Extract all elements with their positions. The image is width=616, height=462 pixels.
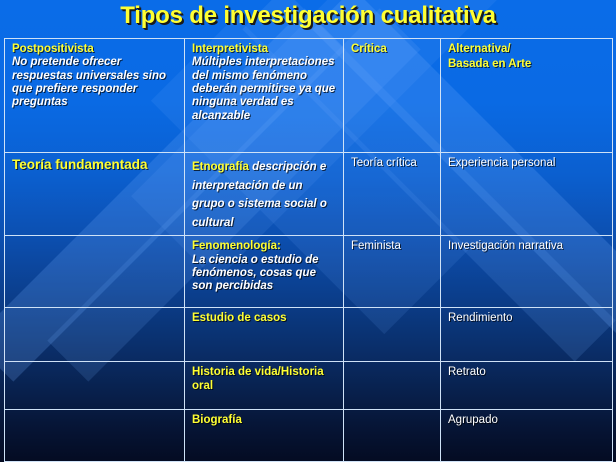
cell-critica: Crítica (344, 39, 441, 153)
header-title-interpretivista: Interpretivista (192, 43, 337, 56)
cell-experiencia-personal: Experiencia personal (441, 153, 613, 236)
cell-empty-r3c1 (5, 308, 185, 362)
row-value-agrupado: Agrupado (448, 414, 606, 427)
header-title-critica: Crítica (351, 43, 434, 56)
page-title: Tipos de investigación cualitativa (0, 2, 616, 30)
table-row: Biografía Agrupado (5, 410, 613, 462)
cell-rendimiento: Rendimiento (441, 308, 613, 362)
cell-teoria-critica: Teoría crítica (344, 153, 441, 236)
cell-alternativa: Alternativa/ Basada en Arte (441, 39, 613, 153)
cell-historia-de-vida: Historia de vida/Historia oral (185, 362, 344, 410)
slide-canvas: Tipos de investigación cualitativa Postp… (0, 0, 616, 462)
cell-agrupado: Agrupado (441, 410, 613, 462)
row-value-investigacion-narrativa: Investigación narrativa (448, 240, 606, 253)
row-title-estudio-de-casos: Estudio de casos (192, 312, 337, 325)
header-title-alternativa-line2: Basada en Arte (448, 58, 606, 71)
table-row: Estudio de casos Rendimiento (5, 308, 613, 362)
cell-fenomenologia: Fenomenología: La ciencia o estudio de f… (185, 236, 344, 308)
table-header-row: Postpositivista No pretende ofrecer resp… (5, 39, 613, 153)
header-title-alternativa-line1: Alternativa/ (448, 43, 606, 56)
cell-investigacion-narrativa: Investigación narrativa (441, 236, 613, 308)
row-value-feminista: Feminista (351, 240, 434, 253)
table-row: Fenomenología: La ciencia o estudio de f… (5, 236, 613, 308)
cell-empty-r5c3 (344, 410, 441, 462)
cell-feminista: Feminista (344, 236, 441, 308)
row-value-rendimiento: Rendimiento (448, 312, 606, 325)
cell-etnografia: Etnografía descripción e interpretación … (185, 153, 344, 236)
cell-teoria-fundamentada: Teoría fundamentada (5, 153, 185, 236)
research-types-table: Postpositivista No pretende ofrecer resp… (4, 38, 613, 462)
cell-biografia: Biografía (185, 410, 344, 462)
row-desc-fenomenologia: La ciencia o estudio de fenómenos, cosas… (192, 254, 337, 294)
table-row: Historia de vida/Historia oral Retrato (5, 362, 613, 410)
row-value-teoria-critica: Teoría crítica (351, 157, 434, 170)
row-title-fenomenologia: Fenomenología: (192, 240, 337, 253)
cell-interpretivista: Interpretivista Múltiples interpretacion… (185, 39, 344, 153)
cell-empty-r2c1 (5, 236, 185, 308)
row-title-biografia: Biografía (192, 414, 337, 427)
row-title-etnografia: Etnografía (192, 161, 249, 173)
cell-empty-r4c1 (5, 362, 185, 410)
table-row: Teoría fundamentada Etnografía descripci… (5, 153, 613, 236)
header-title-postpositivista: Postpositivista (12, 43, 178, 56)
cell-postpositivista: Postpositivista No pretende ofrecer resp… (5, 39, 185, 153)
header-desc-postpositivista: No pretende ofrecer respuestas universal… (12, 56, 178, 109)
row-value-retrato: Retrato (448, 366, 606, 379)
cell-retrato: Retrato (441, 362, 613, 410)
header-desc-interpretivista: Múltiples interpretaciones del mismo fen… (192, 56, 337, 123)
row-value-experiencia-personal: Experiencia personal (448, 157, 606, 170)
cell-empty-r3c3 (344, 308, 441, 362)
cell-empty-r4c3 (344, 362, 441, 410)
cell-estudio-de-casos: Estudio de casos (185, 308, 344, 362)
row-title-historia-de-vida: Historia de vida/Historia oral (192, 366, 337, 393)
cell-empty-r5c1 (5, 410, 185, 462)
row-title-teoria-fundamentada: Teoría fundamentada (12, 157, 178, 173)
